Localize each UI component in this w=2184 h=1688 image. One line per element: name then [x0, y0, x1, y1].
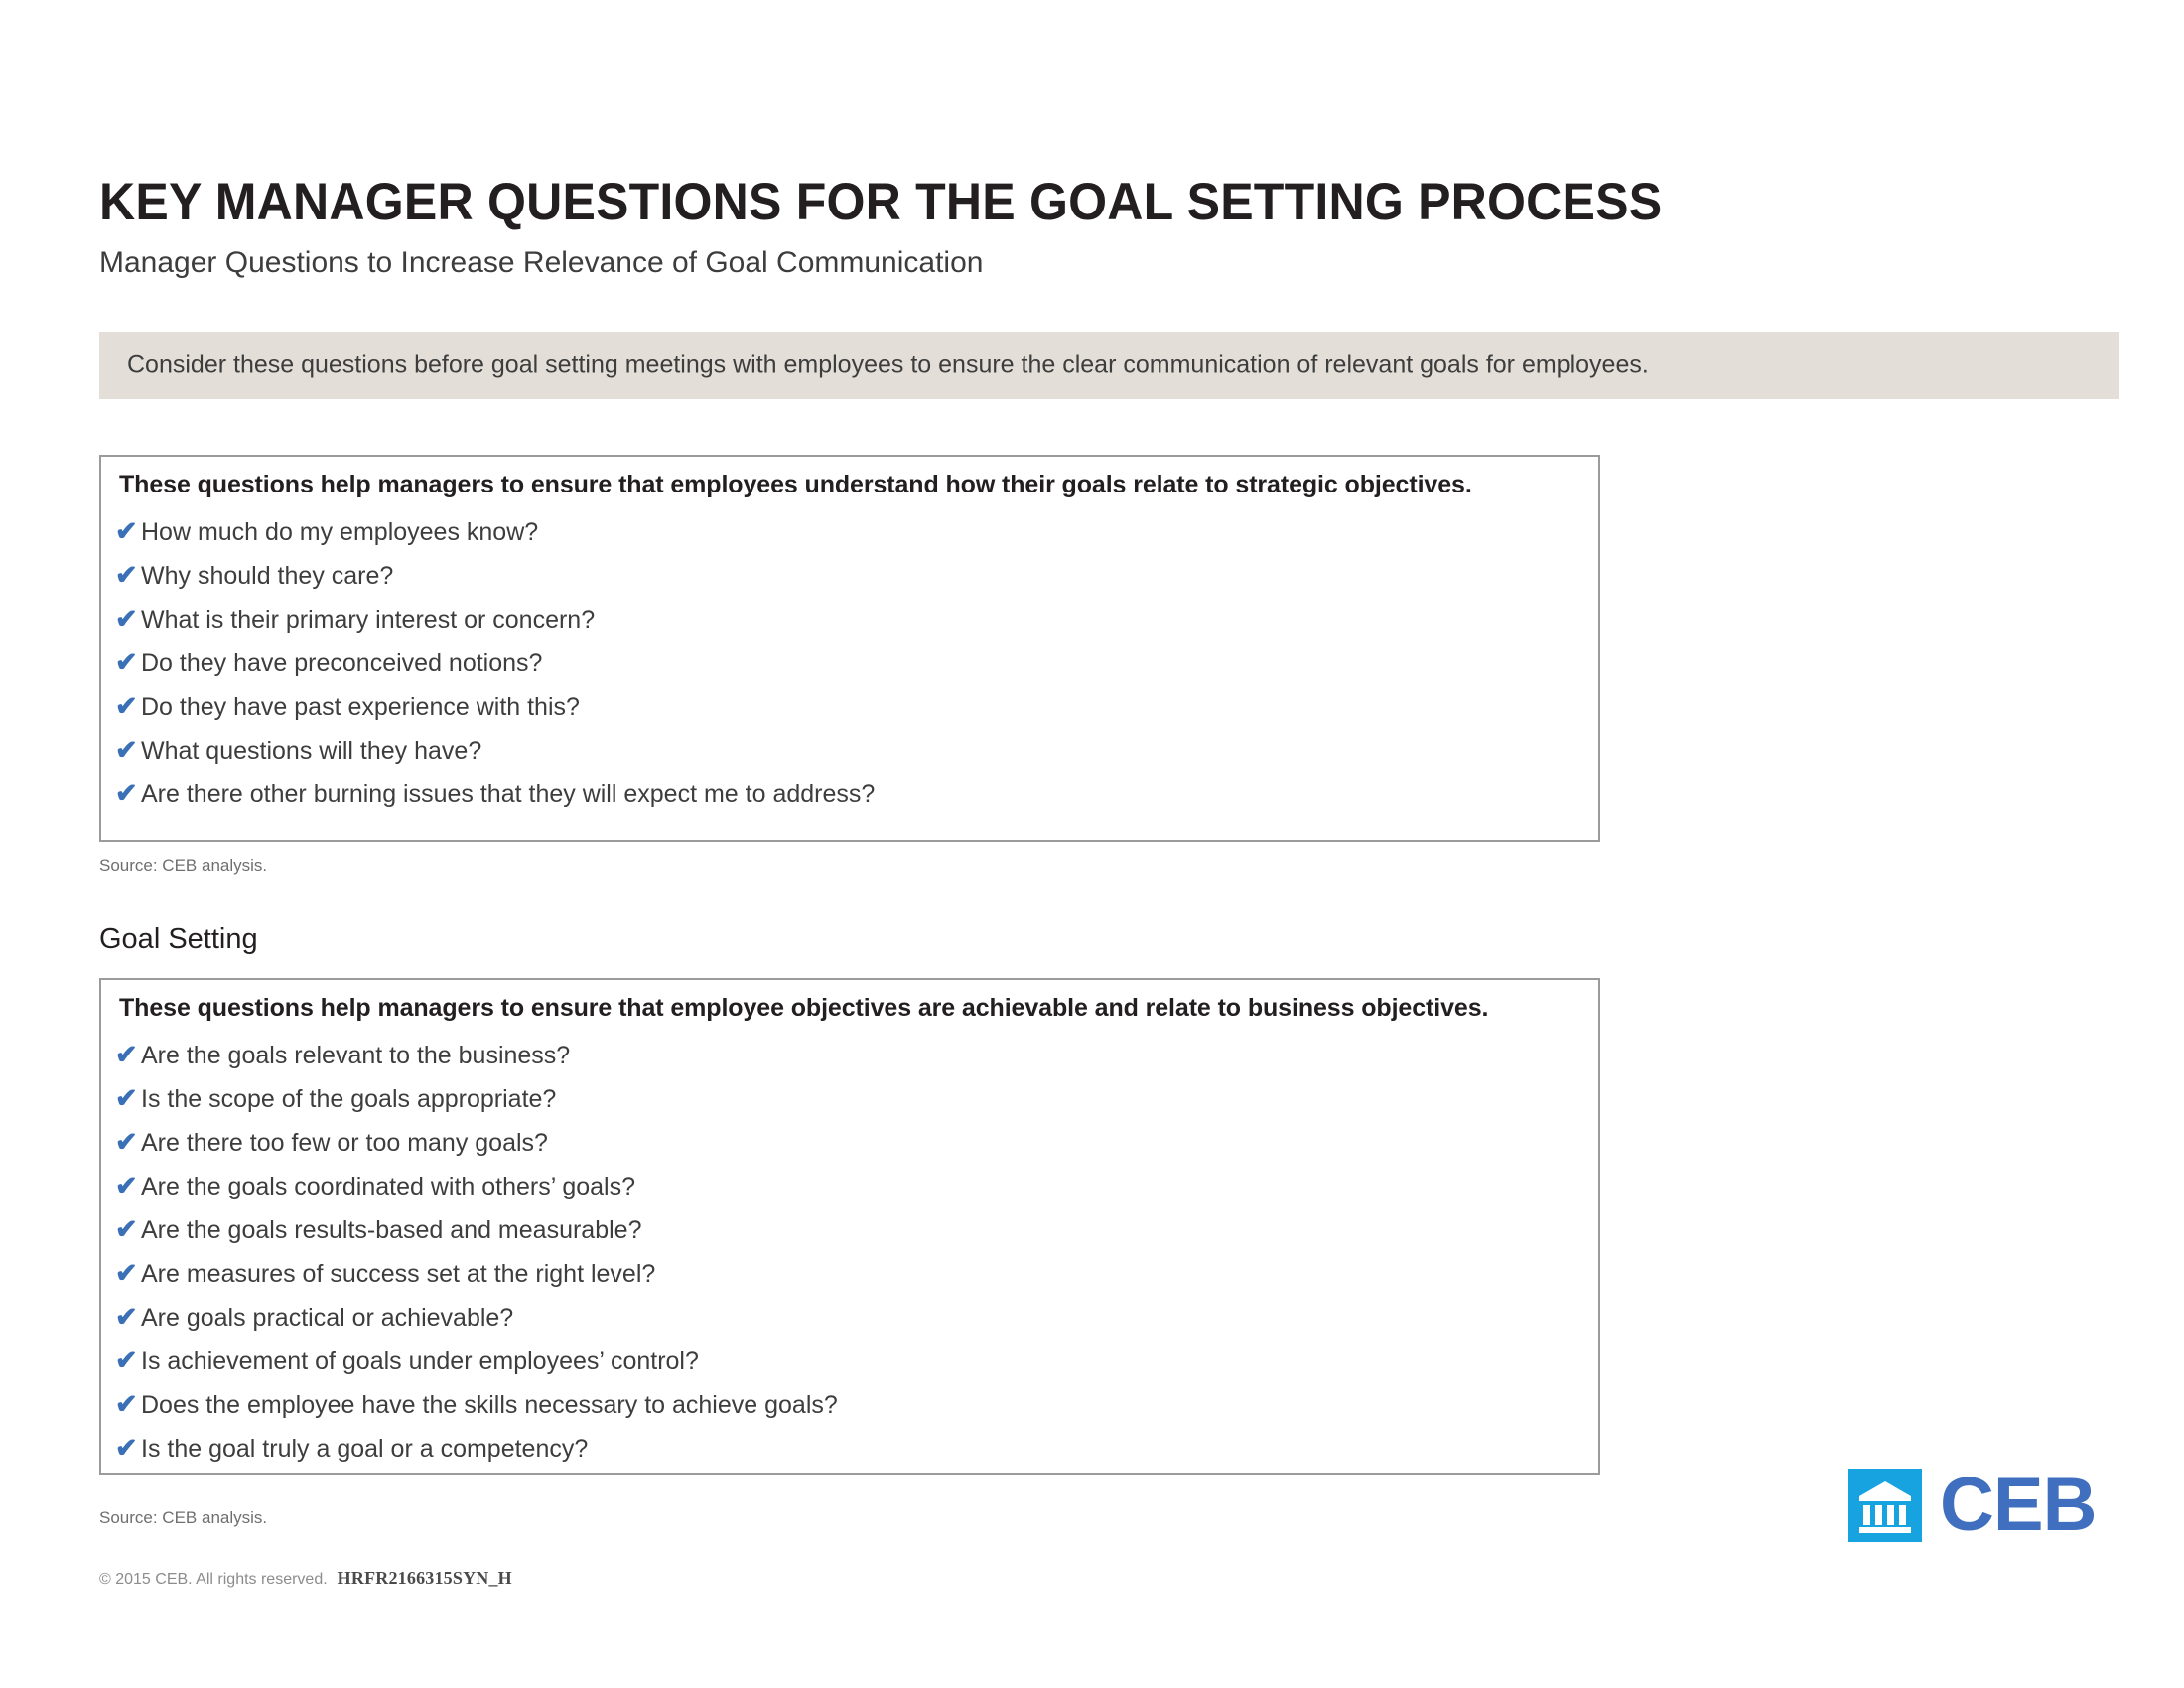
question-list-item: ✔Is achievement of goals under employees… [115, 1347, 1588, 1391]
check-icon: ✔ [115, 518, 141, 545]
source-note: Source: CEB analysis. [99, 1508, 267, 1528]
check-icon: ✔ [115, 737, 141, 764]
question-list-item-label: Is the goal truly a goal or a competency… [141, 1435, 588, 1464]
check-icon: ✔ [115, 606, 141, 633]
question-list-item: ✔Why should they care? [115, 562, 1588, 606]
check-icon: ✔ [115, 1085, 141, 1112]
check-icon: ✔ [115, 1216, 141, 1243]
check-icon: ✔ [115, 1042, 141, 1068]
ceb-logo: CEB [1848, 1469, 2096, 1542]
page-title: KEY MANAGER QUESTIONS FOR THE GOAL SETTI… [99, 175, 1662, 230]
check-icon: ✔ [115, 1129, 141, 1156]
document-page: KEY MANAGER QUESTIONS FOR THE GOAL SETTI… [0, 0, 2184, 1688]
question-box-heading: These questions help managers to ensure … [119, 471, 1472, 499]
question-list-item-label: Are there too few or too many goals? [141, 1129, 548, 1158]
question-list-item: ✔What questions will they have? [115, 737, 1588, 780]
check-icon: ✔ [115, 1435, 141, 1462]
question-list-item-label: Are there other burning issues that they… [141, 780, 875, 809]
check-icon: ✔ [115, 780, 141, 807]
question-list-item-label: Is achievement of goals under employees’… [141, 1347, 699, 1376]
question-list-item: ✔Are the goals results-based and measura… [115, 1216, 1588, 1260]
question-list-item-label: What questions will they have? [141, 737, 481, 766]
document-code: HRFR2166315SYN_H [338, 1568, 512, 1589]
question-list-item-label: Does the employee have the skills necess… [141, 1391, 838, 1420]
ceb-wordmark: CEB [1940, 1474, 2096, 1538]
callout-banner: Consider these questions before goal set… [99, 332, 2119, 399]
footer: © 2015 CEB. All rights reserved. HRFR216… [99, 1568, 512, 1589]
question-box-goal-setting: These questions help managers to ensure … [99, 978, 1600, 1475]
question-list-item: ✔Are the goals relevant to the business? [115, 1042, 1588, 1085]
question-list-item-label: Are the goals results-based and measurab… [141, 1216, 641, 1245]
question-list-item-label: Why should they care? [141, 562, 393, 591]
question-list-item-label: Are measures of success set at the right… [141, 1260, 655, 1289]
question-box-strategic-objectives: These questions help managers to ensure … [99, 455, 1600, 842]
question-list-item: ✔What is their primary interest or conce… [115, 606, 1588, 649]
check-icon: ✔ [115, 649, 141, 676]
question-list-item-label: Are the goals coordinated with others’ g… [141, 1173, 635, 1201]
question-list-item: ✔Do they have preconceived notions? [115, 649, 1588, 693]
question-list-item-label: What is their primary interest or concer… [141, 606, 595, 634]
question-list: ✔Are the goals relevant to the business?… [115, 1042, 1588, 1478]
question-list-item: ✔How much do my employees know? [115, 518, 1588, 562]
question-list: ✔How much do my employees know?✔Why shou… [115, 518, 1588, 824]
callout-text: Consider these questions before goal set… [127, 352, 1649, 380]
bank-building-icon [1848, 1469, 1922, 1542]
question-list-item: ✔Are the goals coordinated with others’ … [115, 1173, 1588, 1216]
question-list-item-label: Is the scope of the goals appropriate? [141, 1085, 556, 1114]
question-list-item: ✔Do they have past experience with this? [115, 693, 1588, 737]
page-subtitle: Manager Questions to Increase Relevance … [99, 246, 983, 280]
question-list-item: ✔Are goals practical or achievable? [115, 1304, 1588, 1347]
question-box-heading: These questions help managers to ensure … [119, 994, 1488, 1023]
check-icon: ✔ [115, 562, 141, 589]
question-list-item-label: Do they have past experience with this? [141, 693, 580, 722]
check-icon: ✔ [115, 1173, 141, 1199]
question-list-item-label: Are goals practical or achievable? [141, 1304, 513, 1333]
check-icon: ✔ [115, 1260, 141, 1287]
question-list-item-label: Are the goals relevant to the business? [141, 1042, 570, 1070]
question-list-item-label: Do they have preconceived notions? [141, 649, 542, 678]
copyright-text: © 2015 CEB. All rights reserved. [99, 1571, 328, 1589]
question-list-item: ✔Is the scope of the goals appropriate? [115, 1085, 1588, 1129]
section-heading-goal-setting: Goal Setting [99, 923, 258, 956]
check-icon: ✔ [115, 1347, 141, 1374]
check-icon: ✔ [115, 1391, 141, 1418]
question-list-item: ✔Are there too few or too many goals? [115, 1129, 1588, 1173]
source-note: Source: CEB analysis. [99, 856, 267, 876]
question-list-item: ✔Are there other burning issues that the… [115, 780, 1588, 824]
check-icon: ✔ [115, 1304, 141, 1331]
check-icon: ✔ [115, 693, 141, 720]
question-list-item: ✔Does the employee have the skills neces… [115, 1391, 1588, 1435]
question-list-item: ✔Are measures of success set at the righ… [115, 1260, 1588, 1304]
question-list-item-label: How much do my employees know? [141, 518, 538, 547]
question-list-item: ✔Is the goal truly a goal or a competenc… [115, 1435, 1588, 1478]
